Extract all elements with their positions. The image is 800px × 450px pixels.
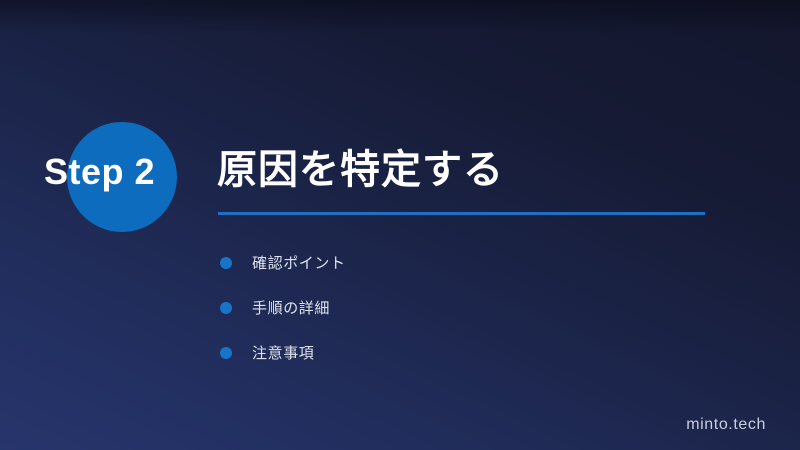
list-item: 注意事項 [220,330,680,375]
bullet-label: 確認ポイント [252,252,346,273]
list-item: 確認ポイント [220,240,680,285]
list-item: 手順の詳細 [220,285,680,330]
bullet-list: 確認ポイント 手順の詳細 注意事項 [220,240,680,375]
step-badge-label: Step 2 [44,154,155,190]
bullet-label: 手順の詳細 [252,297,330,318]
slide-title: 原因を特定する [217,148,504,192]
bullet-label: 注意事項 [252,342,314,363]
footer-brand-label: minto.tech [686,416,766,434]
bullet-dot-icon [220,302,232,314]
bullet-dot-icon [220,257,232,269]
bullet-dot-icon [220,347,232,359]
top-gradient-shade [0,0,800,34]
presentation-slide: Step 2 原因を特定する 確認ポイント 手順の詳細 注意事項 minto.t… [0,0,800,450]
title-underline-rule [218,212,705,215]
